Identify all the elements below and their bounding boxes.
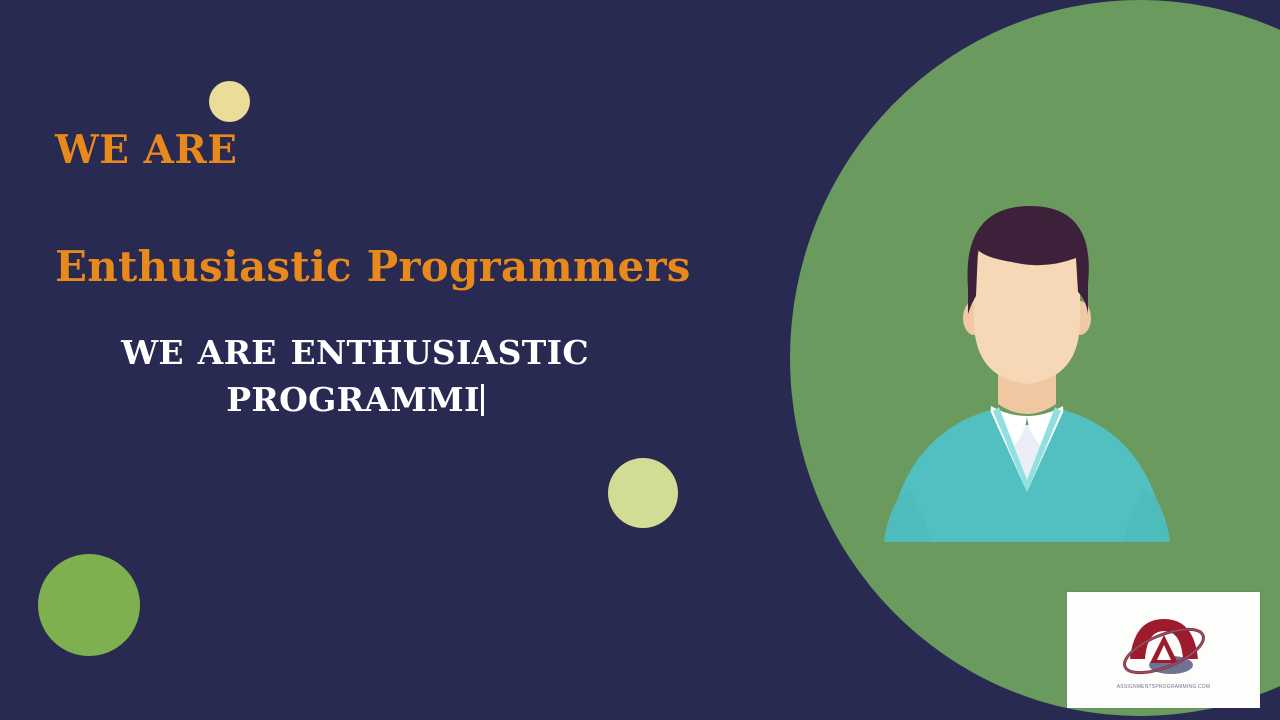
slide-canvas: WE ARE Enthusiastic Programmers WE ARE E… bbox=[0, 0, 1280, 720]
brand-logo-url: ASSIGNMENTSPROGRAMMING.COM bbox=[1117, 683, 1211, 689]
typewriter-line: WE ARE ENTHUSIASTIC PROGRAMMI bbox=[55, 330, 655, 424]
headline-text: Enthusiastic Programmers bbox=[55, 245, 691, 289]
text-cursor-icon bbox=[481, 384, 484, 416]
brand-logo-card[interactable]: ASSIGNMENTSPROGRAMMING.COM bbox=[1067, 592, 1260, 708]
avatar-illustration bbox=[862, 192, 1192, 542]
typed-text: WE ARE ENTHUSIASTIC PROGRAMMI bbox=[121, 333, 589, 419]
brand-logo-icon bbox=[1114, 611, 1214, 683]
kicker-text: WE ARE bbox=[55, 131, 238, 170]
copy-block: WE ARE Enthusiastic Programmers WE ARE E… bbox=[0, 0, 760, 720]
